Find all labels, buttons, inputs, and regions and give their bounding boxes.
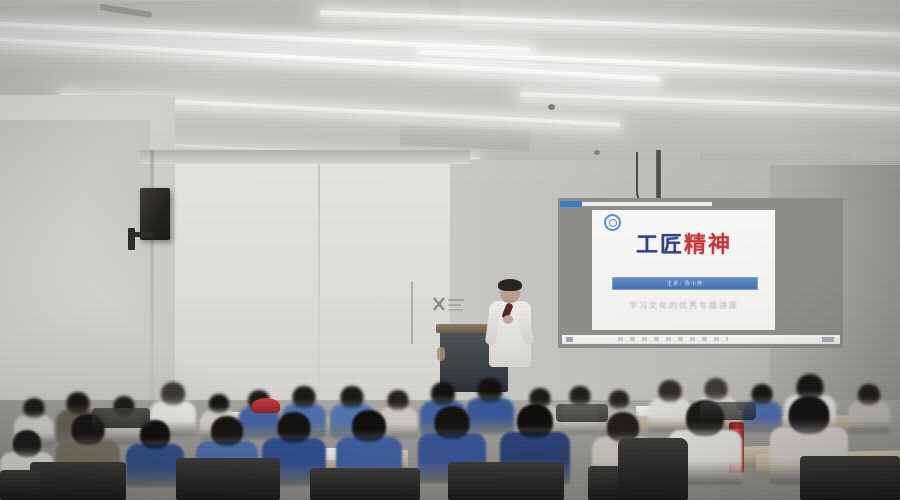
attendee-head <box>609 390 629 409</box>
attendee-head <box>293 386 316 408</box>
chair <box>176 458 280 500</box>
attendee-head <box>431 382 455 405</box>
attendee-head <box>67 392 90 414</box>
ceiling-soffit <box>140 150 470 164</box>
slide-subtitle: 学习文化的优秀专题讲座 <box>604 300 764 311</box>
slide-speaker-bar: 主讲：陈小燕 <box>612 277 758 290</box>
wall-sign <box>432 292 468 316</box>
slide-title-red: 精神 <box>684 232 732 257</box>
attendee-head <box>24 398 45 418</box>
lectern-handle <box>437 347 445 361</box>
chair <box>92 408 150 428</box>
chair <box>800 456 900 500</box>
attendee-head <box>341 386 364 408</box>
slide-emblem-inner-icon <box>609 219 617 227</box>
projected-slide <box>592 210 775 330</box>
chair <box>448 462 564 500</box>
speaker-bracket-post <box>128 228 135 250</box>
screen-surround <box>775 198 843 348</box>
red-cap-icon <box>252 398 280 413</box>
attendee-head <box>789 396 830 434</box>
taskbar-tray-icon[interactable] <box>822 337 834 342</box>
wall-edge <box>411 282 413 344</box>
chair <box>30 462 126 500</box>
slide-speaker-bar-text: 主讲：陈小燕 <box>613 278 757 289</box>
taskbar-start-icon[interactable] <box>566 337 573 342</box>
attendee-torso <box>848 401 890 433</box>
attendee-head <box>209 394 229 413</box>
attendee-head <box>858 384 880 405</box>
chair <box>310 468 420 500</box>
training-room-photo: 工匠精神 主讲：陈小燕 学习文化的优秀专题讲座 <box>0 0 900 500</box>
smoke-detector-icon <box>548 104 555 110</box>
attendee-head <box>659 380 682 402</box>
taskbar-items[interactable] <box>618 337 728 341</box>
screen-surround <box>558 198 592 348</box>
attendee-head <box>705 378 728 400</box>
wall-back <box>150 150 450 410</box>
attendee <box>848 384 890 430</box>
chair <box>618 438 688 500</box>
chair <box>556 404 608 422</box>
attendee-head <box>211 416 243 446</box>
chair <box>700 402 756 420</box>
wall-corner-edge <box>318 152 320 402</box>
attendee-head <box>517 404 553 438</box>
projected-window-button[interactable] <box>560 201 582 207</box>
smoke-detector-icon <box>594 150 600 155</box>
slide-title: 工匠精神 <box>601 234 767 256</box>
chair <box>0 470 40 500</box>
attendee-head <box>435 406 470 439</box>
attendee-head <box>278 412 311 443</box>
slide-title-ink: 工匠 <box>636 232 684 257</box>
presenter-hair <box>498 279 522 291</box>
attendee-head <box>478 378 503 402</box>
wall-left-shading <box>0 120 150 420</box>
presenter <box>487 281 533 381</box>
attendee-head <box>388 390 409 410</box>
presenter-hand <box>503 315 513 324</box>
attendee-head <box>352 410 386 442</box>
projected-window-topbar <box>582 202 712 206</box>
attendee-head <box>13 430 41 457</box>
attendee-head <box>161 382 185 405</box>
attendee-head <box>570 386 591 406</box>
